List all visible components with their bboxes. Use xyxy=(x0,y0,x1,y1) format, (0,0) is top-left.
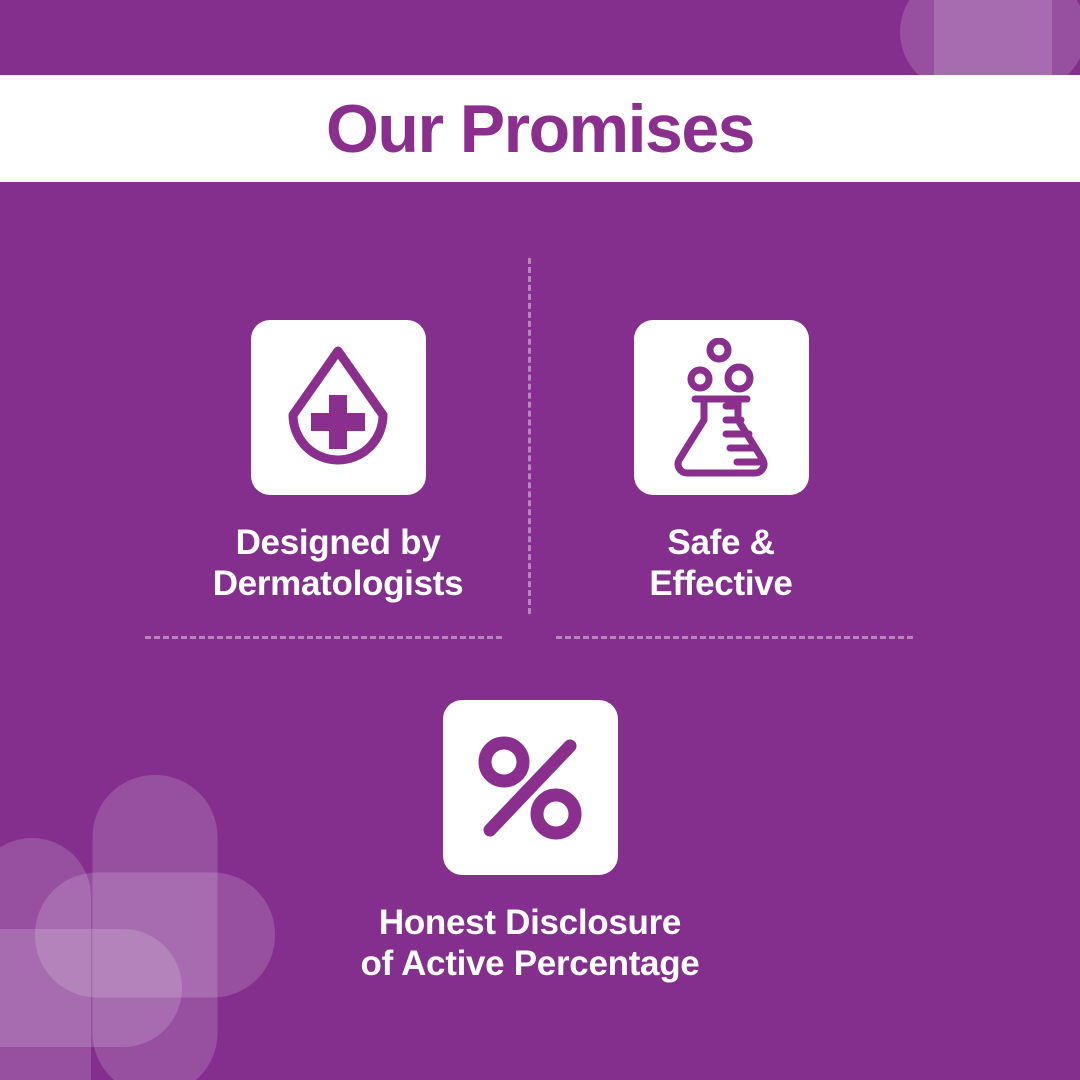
page-title: Our Promises xyxy=(326,95,754,163)
promises-infographic: Our Promises Designed by Dermatologists xyxy=(0,0,1080,1080)
horizontal-dashed-divider-left xyxy=(145,636,502,639)
header-banner: Our Promises xyxy=(0,75,1080,182)
icon-card xyxy=(443,700,618,875)
icon-card xyxy=(634,320,809,495)
horizontal-dashed-divider-right xyxy=(556,636,913,639)
percent-icon xyxy=(475,733,585,843)
promise-label: Honest Disclosure of Active Percentage xyxy=(361,903,700,984)
cross-vertical-bar xyxy=(0,838,91,1080)
promise-label: Safe & Effective xyxy=(649,523,792,604)
promise-label: Designed by Dermatologists xyxy=(213,523,464,604)
cross-vertical-bar xyxy=(93,775,218,1080)
icon-card xyxy=(251,320,426,495)
droplet-plus-icon xyxy=(279,343,397,473)
cross-horizontal-bar xyxy=(35,873,275,998)
cross-shape-bottom-left-small-icon xyxy=(35,775,275,1080)
flask-icon xyxy=(667,338,775,478)
promise-item-safe-and-effective: Safe & Effective xyxy=(551,320,891,604)
promise-item-honest-disclosure: Honest Disclosure of Active Percentage xyxy=(340,700,720,984)
cross-horizontal-bar xyxy=(0,929,182,1047)
promise-item-designed-by-dermatologists: Designed by Dermatologists xyxy=(138,320,538,604)
cross-shape-bottom-left-large-icon xyxy=(0,838,182,1080)
